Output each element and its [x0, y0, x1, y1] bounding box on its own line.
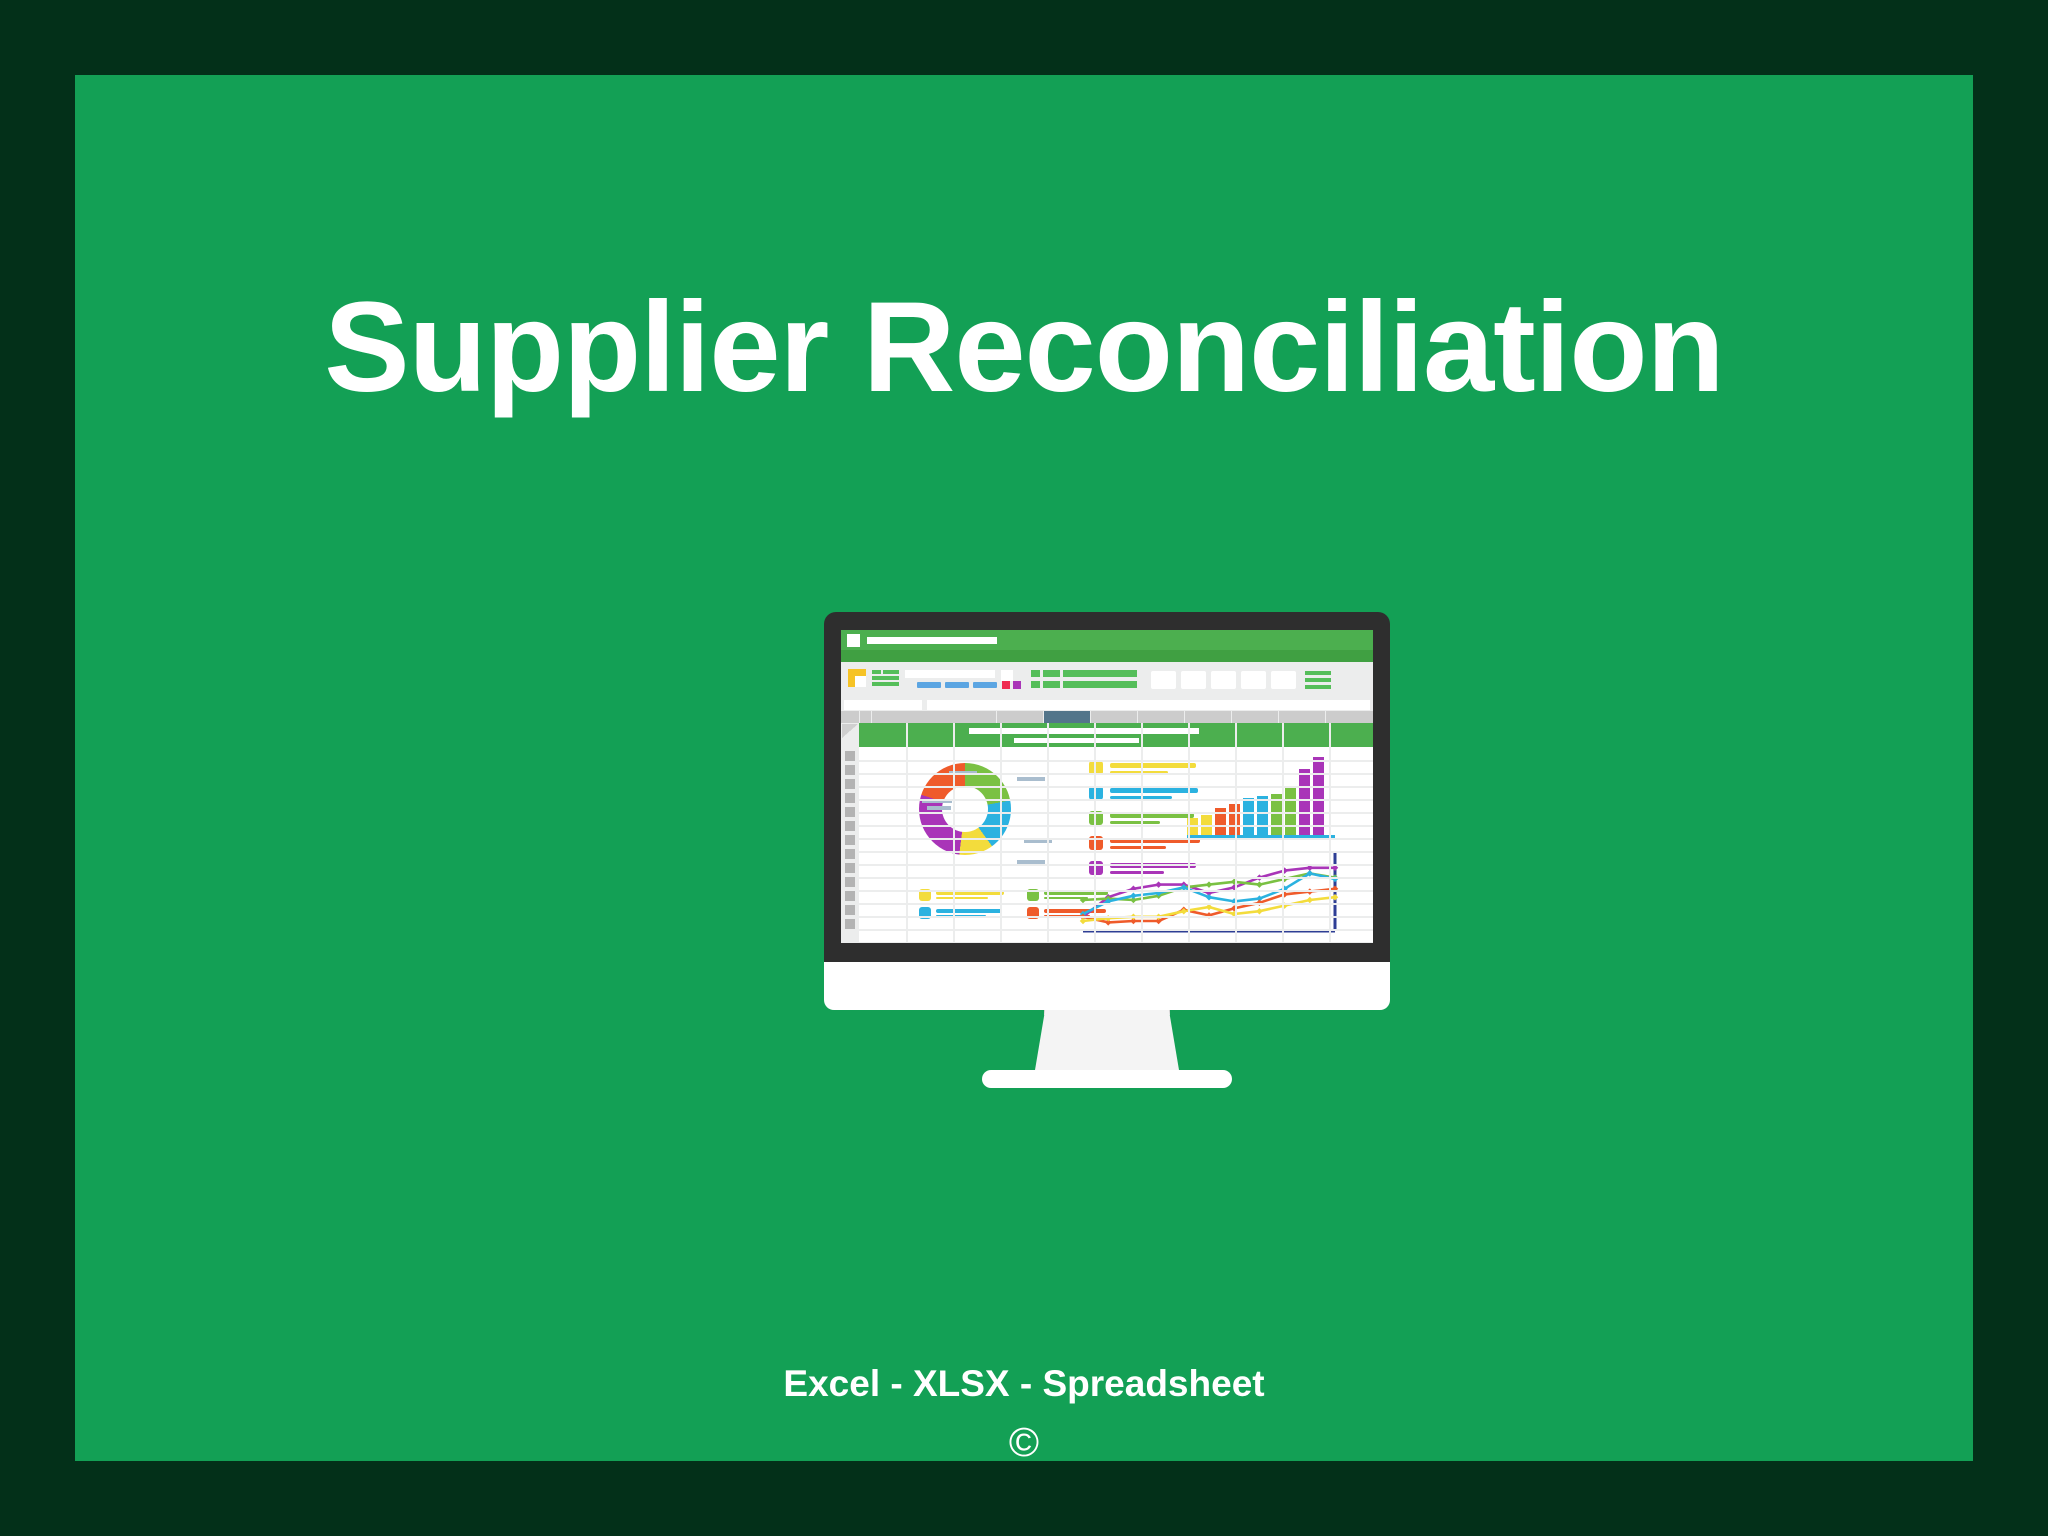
legend-text-bars: [936, 891, 1004, 899]
ribbon-button-1[interactable]: [1151, 671, 1176, 689]
font-size-field[interactable]: [1001, 670, 1013, 681]
legend-label-bar: [936, 909, 1002, 913]
trend-marker: [1130, 893, 1137, 900]
column-chart-bar: [1285, 787, 1296, 835]
column-header-cell[interactable]: [1044, 711, 1090, 723]
monitor-chin: [824, 962, 1390, 1010]
row-header-cell[interactable]: [845, 905, 855, 915]
select-all-corner[interactable]: [842, 724, 858, 738]
row-header-cell[interactable]: [845, 835, 855, 845]
donut-callout-label: [1017, 777, 1045, 781]
row-header-cell[interactable]: [845, 751, 855, 761]
grid-line-vertical: [1047, 723, 1049, 943]
grid-line-horizontal: [859, 916, 1373, 918]
row-header-cell[interactable]: [845, 793, 855, 803]
desktop-monitor-illustration: [810, 600, 1390, 1085]
row-header-cell[interactable]: [845, 863, 855, 873]
column-header-cell[interactable]: [1232, 711, 1278, 723]
grid-line-horizontal: [859, 812, 1373, 814]
trend-marker: [1206, 881, 1213, 888]
number-format-group[interactable]: [1031, 670, 1141, 690]
fill-color-button[interactable]: [1002, 681, 1010, 689]
grid-line-vertical: [1094, 723, 1096, 943]
column-header-row: [841, 711, 1373, 723]
grid-line-vertical: [1000, 723, 1002, 943]
spreadsheet-menubar: [841, 650, 1373, 662]
column-chart-bar: [1243, 798, 1254, 835]
grid-line-horizontal: [859, 760, 1373, 762]
align-right-button[interactable]: [973, 682, 997, 688]
trend-marker: [1332, 894, 1339, 901]
column-header-cell[interactable]: [1326, 711, 1373, 723]
spreadsheet-titlebar: [841, 630, 1373, 650]
grid-line-horizontal: [859, 864, 1373, 866]
cell-grid[interactable]: [859, 723, 1373, 943]
grid-line-vertical: [1235, 723, 1237, 943]
trend-marker: [1155, 881, 1162, 888]
grid-line-vertical: [1188, 723, 1190, 943]
grid-line-horizontal: [859, 942, 1373, 943]
legend-label-bar: [1110, 763, 1196, 768]
align-left-button[interactable]: [917, 682, 941, 688]
column-header-cell[interactable]: [860, 711, 871, 723]
column-header-cell[interactable]: [841, 711, 859, 723]
grid-line-horizontal: [859, 903, 1373, 905]
legend-item: [1089, 786, 1200, 800]
grid-line-vertical: [1282, 723, 1284, 943]
column-header-cell[interactable]: [997, 711, 1043, 723]
legend-text-bars: [1110, 763, 1196, 774]
legend-text-bars: [1110, 788, 1198, 799]
trend-marker: [1256, 881, 1263, 888]
legend-text-bars: [1110, 813, 1194, 824]
column-chart-bar: [1313, 757, 1324, 835]
window-title-placeholder: [867, 637, 997, 644]
column-header-cell[interactable]: [1185, 711, 1231, 723]
page-title: Supplier Reconciliation: [75, 281, 1973, 415]
font-color-button[interactable]: [1013, 681, 1021, 689]
ribbon-button-5[interactable]: [1271, 671, 1296, 689]
legend-value-bar: [936, 897, 988, 899]
legend-value-bar: [1110, 821, 1160, 824]
align-center-button[interactable]: [945, 682, 969, 688]
trend-marker: [1080, 918, 1087, 925]
column-header-cell[interactable]: [1091, 711, 1137, 723]
font-name-field[interactable]: [905, 670, 995, 678]
column-chart-bar: [1257, 796, 1268, 835]
sheet-title-text-main: [969, 728, 1199, 734]
legend-label-bar: [1110, 788, 1198, 793]
row-header-cell[interactable]: [845, 877, 855, 887]
row-header-cell[interactable]: [845, 919, 855, 929]
row-header-cell[interactable]: [845, 779, 855, 789]
grid-line-vertical: [906, 723, 908, 943]
row-header-cell[interactable]: [845, 765, 855, 775]
grid-line-horizontal: [859, 838, 1373, 840]
footer: Excel - XLSX - Spreadsheet ©: [75, 1365, 1973, 1469]
footer-format-label: Excel - XLSX - Spreadsheet: [75, 1365, 1973, 1404]
trend-line-chart: [1079, 848, 1339, 936]
app-logo-icon: [847, 634, 860, 647]
grid-line-horizontal: [859, 877, 1373, 879]
formula-bar: [841, 698, 1373, 711]
trend-line-chart-svg: [1079, 848, 1339, 936]
grid-line-horizontal: [859, 799, 1373, 801]
trend-marker: [1256, 908, 1263, 915]
grid-line-horizontal: [859, 851, 1373, 853]
grid-line-horizontal: [859, 825, 1373, 827]
row-header-cell[interactable]: [845, 821, 855, 831]
name-box-input[interactable]: [844, 700, 922, 710]
column-header-cell[interactable]: [872, 711, 996, 723]
monitor-base: [982, 1070, 1232, 1088]
row-header-cell[interactable]: [845, 807, 855, 817]
sheet-title-banner: [859, 723, 1373, 747]
formula-input[interactable]: [927, 700, 1370, 710]
donut-callout-label: [927, 806, 951, 810]
column-header-cell[interactable]: [1279, 711, 1325, 723]
monitor-neck: [1035, 1010, 1179, 1070]
grid-line-horizontal: [859, 929, 1373, 931]
ribbon-button-2[interactable]: [1181, 671, 1206, 689]
column-header-cell[interactable]: [1138, 711, 1184, 723]
row-header-cell[interactable]: [845, 891, 855, 901]
grid-line-vertical: [953, 723, 955, 943]
grid-line-horizontal: [859, 786, 1373, 788]
copyright-symbol: ©: [75, 1416, 1973, 1469]
ribbon-button-4[interactable]: [1241, 671, 1266, 689]
spreadsheet-screen: [841, 630, 1373, 943]
row-header-cell[interactable]: [845, 849, 855, 859]
grid-line-vertical: [1329, 723, 1331, 943]
sheet-title-text-sub: [1014, 738, 1139, 743]
menu-hamburger-icon[interactable]: [1305, 671, 1331, 689]
grid-line-vertical: [1141, 723, 1143, 943]
spreadsheet-ribbon: [841, 662, 1373, 698]
table-format-icon[interactable]: [872, 670, 899, 686]
row-header-column: [841, 723, 859, 943]
slide-panel: Supplier Reconciliation: [75, 75, 1973, 1461]
paste-icon-sheet: [855, 676, 866, 687]
ribbon-button-3[interactable]: [1211, 671, 1236, 689]
grid-line-horizontal: [859, 773, 1373, 775]
sheet-body: [841, 723, 1373, 943]
legend-swatch: [1089, 786, 1103, 800]
grid-line-horizontal: [859, 890, 1373, 892]
